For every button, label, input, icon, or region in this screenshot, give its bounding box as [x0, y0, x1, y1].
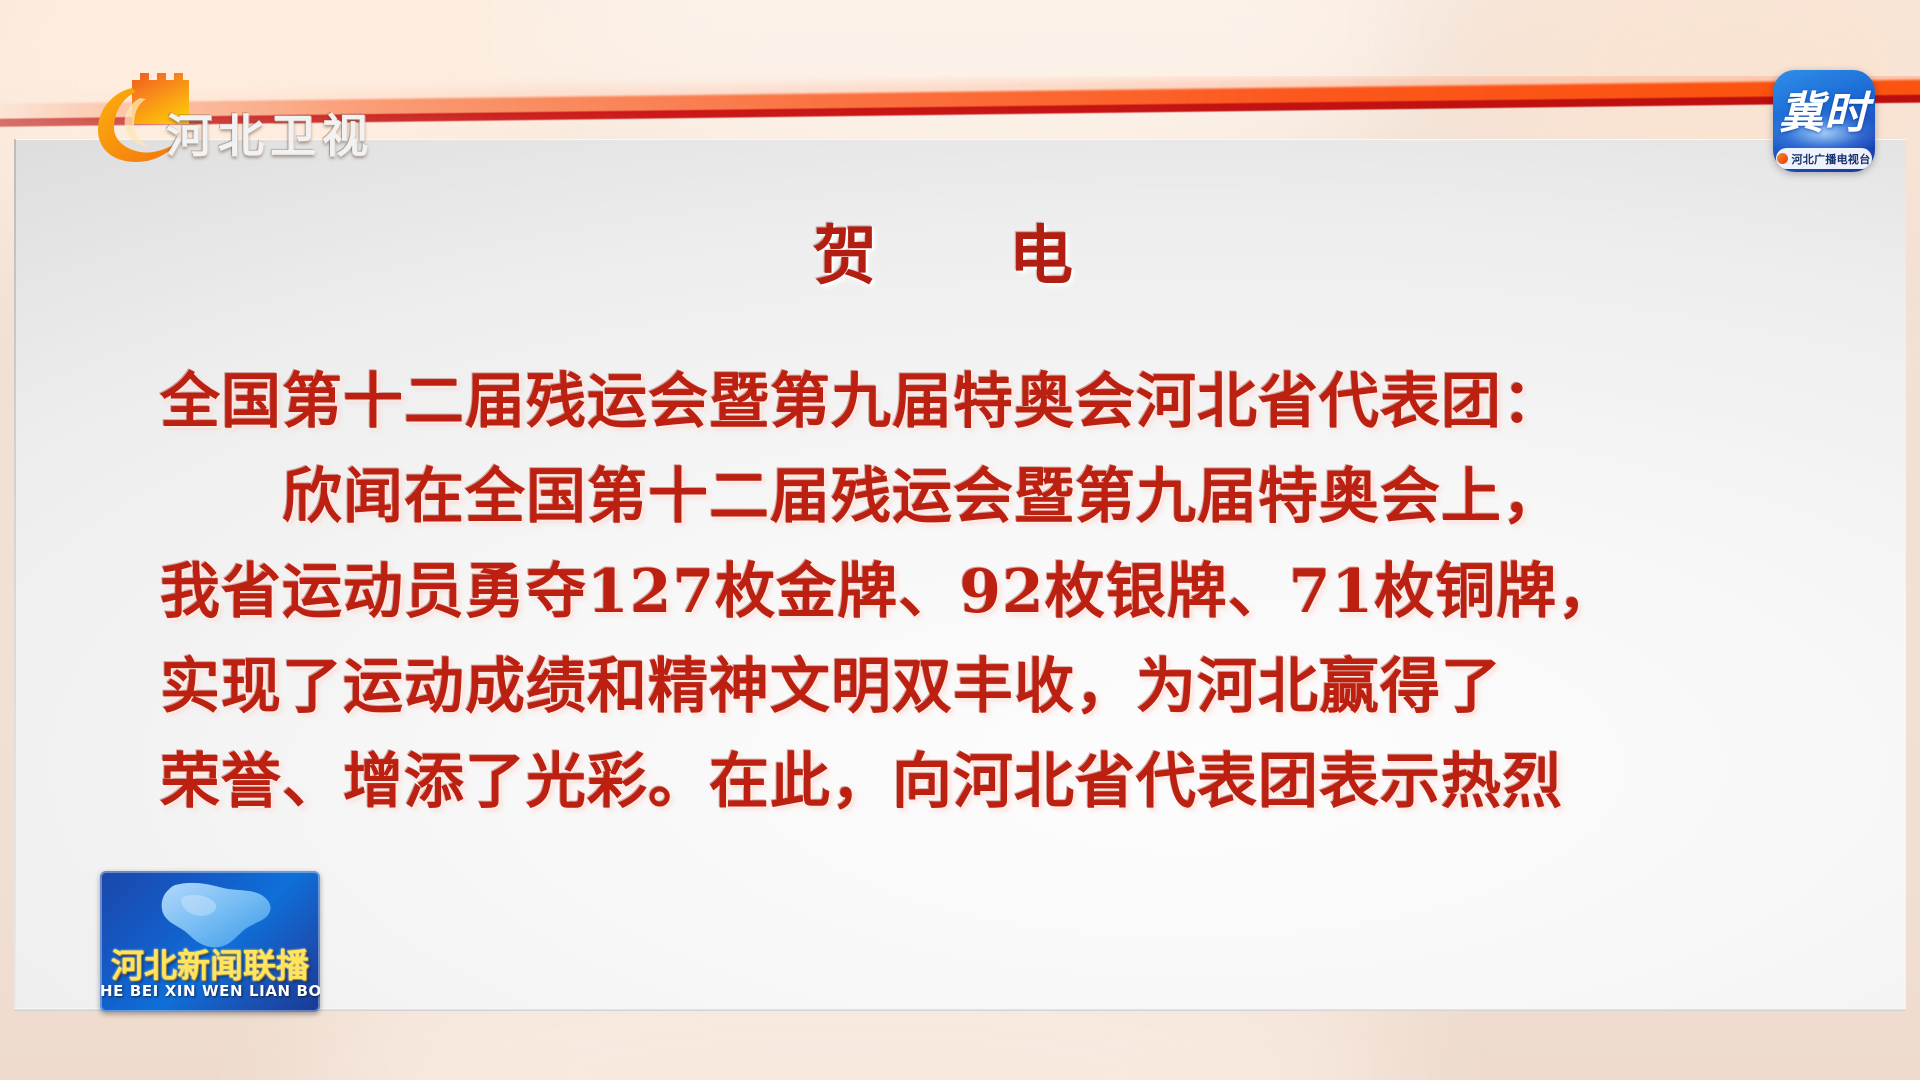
channel-logo-text: 河北卫视	[166, 100, 374, 166]
flame-dot-icon	[1777, 153, 1788, 164]
app-icon: 冀时 河北广播电视台	[1773, 70, 1875, 172]
program-logo-chinese: 河北新闻联播	[100, 939, 320, 987]
app-icon-station-text: 河北广播电视台	[1791, 151, 1870, 167]
document-body: 全国第十二届残运会暨第九届特奥会河北省代表团： 欣闻在全国第十二届残运会暨第九届…	[160, 355, 1760, 830]
app-icon-text: 冀时	[1773, 77, 1875, 141]
document-line: 欣闻在全国第十二届残运会暨第九届特奥会上，	[160, 450, 1760, 545]
app-icon-station-bar: 河北广播电视台	[1776, 148, 1872, 169]
document-line: 荣誉、增添了光彩。在此，向河北省代表团表示热烈	[160, 735, 1760, 830]
document-title: 贺 电	[0, 205, 1920, 297]
document-line: 我省运动员勇夺127枚金牌、92枚银牌、71枚铜牌，	[160, 545, 1760, 640]
broadcast-screen: 河北卫视 冀时 河北广播电视台 贺 电 全国第十二届残运会暨第九届特奥会河北省代…	[0, 0, 1920, 1080]
document-line: 全国第十二届残运会暨第九届特奥会河北省代表团：	[160, 355, 1760, 450]
channel-logo: 河北卫视	[96, 58, 416, 168]
program-logo: 河北新闻联播 HE BEI XIN WEN LIAN BO	[100, 871, 320, 1012]
program-logo-pinyin: HE BEI XIN WEN LIAN BO	[100, 982, 320, 1000]
document-line: 实现了运动成绩和精神文明双丰收，为河北赢得了	[160, 640, 1760, 735]
